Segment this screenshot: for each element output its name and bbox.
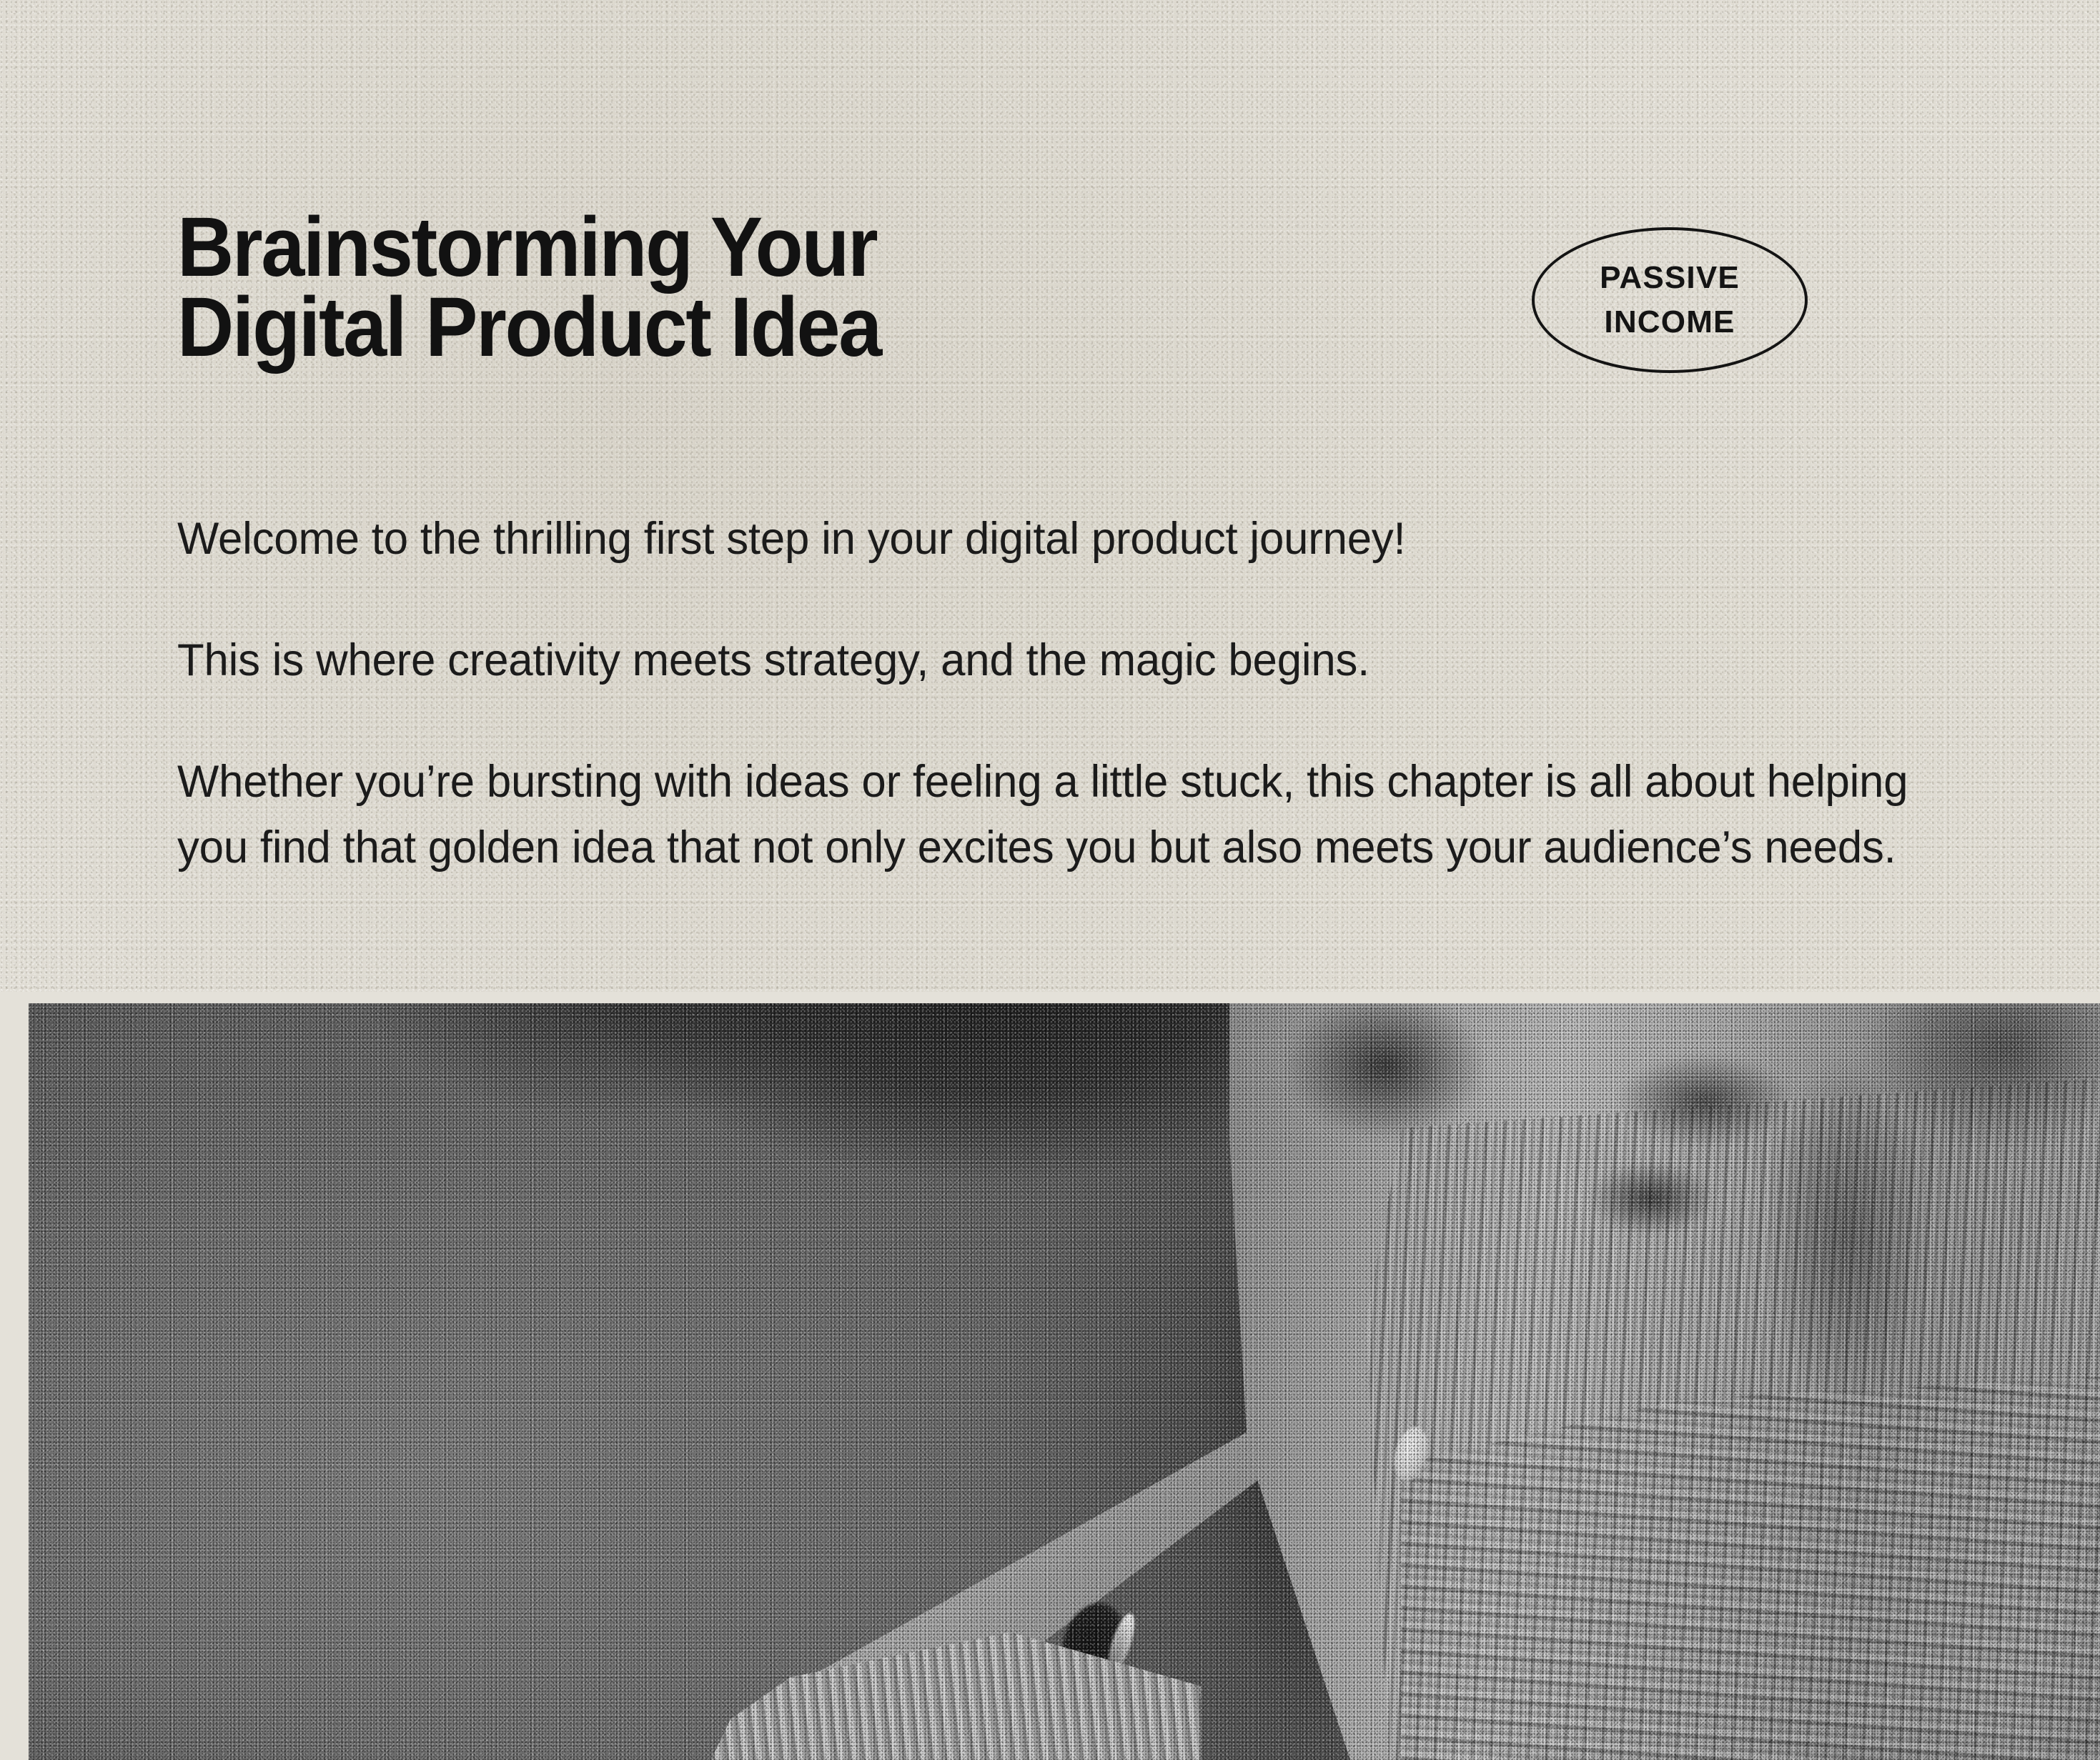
text-panel: Brainstorming Your Digital Product Idea … — [0, 0, 2100, 992]
passive-income-badge: PASSIVE INCOME — [1532, 227, 1808, 373]
page-title: Brainstorming Your Digital Product Idea — [177, 207, 1307, 367]
body-paragraph-2: This is where creativity meets strategy,… — [177, 627, 1914, 693]
badge-line-1: PASSIVE — [1600, 256, 1740, 300]
torso-photograph — [29, 1003, 2100, 1760]
body-paragraph-3: Whether you’re bursting with ideas or fe… — [177, 749, 1914, 880]
body-paragraph-1: Welcome to the thrilling first step in y… — [177, 506, 1914, 572]
badge-line-2: INCOME — [1604, 300, 1735, 344]
photo-fabric-folds — [1244, 1003, 2100, 1446]
slide-page: Brainstorming Your Digital Product Idea … — [0, 0, 2100, 1760]
body-copy: Welcome to the thrilling first step in y… — [177, 506, 1950, 880]
